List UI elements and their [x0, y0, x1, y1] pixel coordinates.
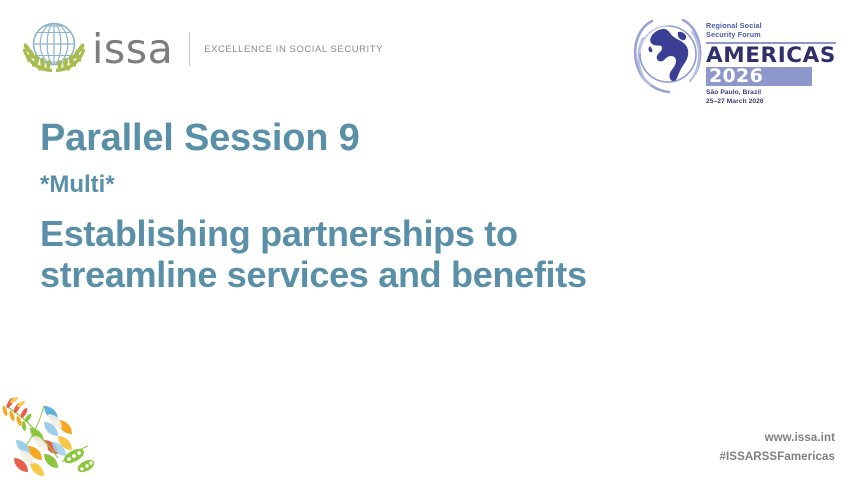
issa-logo: issa EXCELLENCE IN SOCIAL SECURITY: [18, 18, 383, 80]
forum-kicker-line2: Security Forum: [706, 30, 836, 39]
event-hashtag: #ISSARSSFamericas: [720, 451, 835, 463]
website-link[interactable]: www.issa.int: [720, 430, 835, 447]
footer: www.issa.int #ISSARSSFamericas: [720, 430, 835, 467]
slide-canvas: issa EXCELLENCE IN SOCIAL SECURITY Reg: [0, 0, 853, 480]
botanical-leaves-graphic: [0, 384, 108, 480]
forum-kicker-line1: Regional Social: [706, 21, 836, 30]
forum-logo: Regional Social Security Forum AMERICAS …: [626, 12, 836, 100]
forum-year-bar: 2026: [706, 67, 812, 86]
globe-laurel-emblem: [18, 18, 90, 80]
slide-body: Parallel Session 9 *Multi* Establishing …: [40, 118, 740, 319]
issa-wordmark: issa: [92, 29, 173, 70]
page-title: Establishing partnerships to streamline …: [40, 213, 700, 295]
americas-globe-icon: [626, 12, 710, 98]
logo-divider: [189, 32, 190, 66]
forum-place: São Paulo, Brazil: [706, 89, 836, 98]
session-label: Parallel Session 9: [40, 118, 740, 159]
session-multi-tag: *Multi*: [40, 171, 740, 199]
issa-tagline: EXCELLENCE IN SOCIAL SECURITY: [204, 44, 383, 55]
forum-kicker: Regional Social Security Forum: [706, 21, 836, 40]
forum-text-block: Regional Social Security Forum AMERICAS …: [706, 12, 836, 107]
forum-dates: 25–27 March 2026: [706, 98, 836, 107]
forum-title: AMERICAS: [706, 45, 836, 67]
forum-year: 2026: [709, 66, 763, 86]
